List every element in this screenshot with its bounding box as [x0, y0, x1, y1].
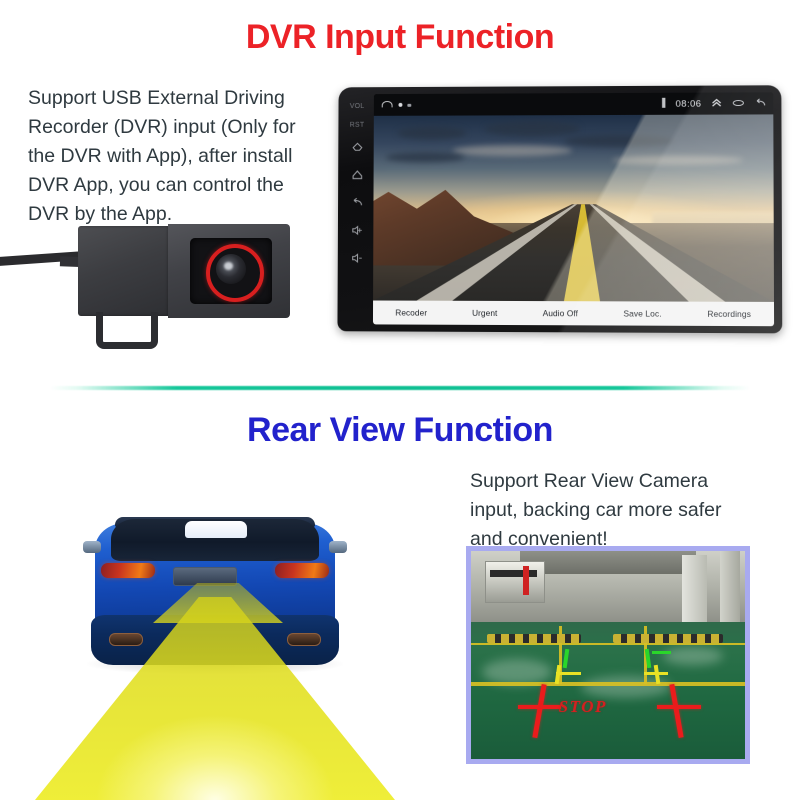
back-arrow-icon[interactable]: [754, 94, 766, 112]
floor-reflection: [663, 647, 723, 665]
reversing-camera-parking-preview: STOP: [466, 546, 750, 764]
parking-barrier-bar: [490, 570, 537, 577]
parking-wheel-stop: [487, 634, 580, 642]
guideline-near-tick-right: [657, 705, 701, 709]
car-mirror-right: [329, 541, 347, 553]
car-exhaust-left: [109, 633, 143, 646]
wallpaper-cloud: [612, 156, 743, 165]
volume-down-icon[interactable]: [350, 252, 363, 265]
parking-lot-line: [471, 682, 745, 686]
side-key-vol-label[interactable]: VOL: [350, 103, 365, 111]
stop-marking-text: STOP: [559, 697, 607, 717]
rear-view-camera-coverage-illustration: [35, 505, 395, 800]
camera-lens-glint: [224, 262, 233, 270]
parking-wheel-stop: [613, 634, 723, 642]
status-bar-clock: 08:06: [675, 98, 701, 109]
cloud-icon: [381, 96, 394, 114]
dvr-function-bar: Recoder Urgent Audio Off Save Loc. Recor…: [373, 300, 774, 326]
camera-body-left: [78, 226, 170, 316]
parking-barrier-marker: [523, 566, 528, 595]
head-unit-screen[interactable]: 08:06: [373, 92, 774, 326]
car-head-unit: VOL RST: [337, 85, 782, 333]
parking-barrier: [485, 561, 545, 603]
recent-apps-icon[interactable]: [732, 94, 745, 112]
head-unit-side-keys: VOL RST: [341, 95, 372, 323]
chevron-up-icon[interactable]: [711, 95, 723, 113]
car-exhaust-right: [287, 633, 321, 646]
power-icon[interactable]: [351, 141, 364, 154]
rear-view-section-description: Support Rear View Camera input, backing …: [470, 467, 755, 554]
car-rear-window: [185, 521, 247, 538]
rear-view-section-title: Rear View Function: [0, 411, 800, 450]
parking-garage-pillar: [682, 555, 707, 622]
section-divider: [50, 386, 750, 390]
dvr-section-title: DVR Input Function: [0, 18, 800, 57]
func-button-audio-off[interactable]: Audio Off: [543, 308, 578, 318]
usb-dvr-camera-device: [0, 212, 300, 340]
status-dot-icon: [398, 103, 402, 107]
func-button-save-loc[interactable]: Save Loc.: [623, 308, 661, 318]
func-button-recoder[interactable]: Recoder: [395, 308, 427, 318]
camera-mount-bracket: [96, 312, 158, 349]
dvr-section-description: Support USB External Driving Recorder (D…: [28, 84, 318, 229]
parking-garage-ceiling: [520, 551, 695, 574]
wallpaper-cloud: [484, 121, 580, 136]
func-button-urgent[interactable]: Urgent: [472, 308, 497, 318]
guideline-far-tick-right: [652, 651, 671, 654]
func-button-recordings[interactable]: Recordings: [707, 309, 751, 319]
side-key-rst-label[interactable]: RST: [350, 122, 365, 130]
car-taillight-left: [101, 563, 155, 578]
status-dot-small-icon: [407, 103, 411, 106]
guideline-near-tick-left: [518, 705, 562, 709]
volume-up-icon[interactable]: [350, 224, 363, 237]
android-status-bar: 08:06: [374, 92, 773, 116]
guideline-mid-tick-left: [556, 672, 581, 675]
sunset-highway-wallpaper: [373, 114, 774, 302]
camera-field-of-view-cone: [35, 597, 395, 800]
back-icon[interactable]: [350, 196, 363, 209]
wallpaper-cloud: [453, 145, 572, 156]
parking-garage-pillar: [720, 551, 739, 622]
home-icon[interactable]: [350, 168, 363, 181]
car-mirror-left: [83, 541, 101, 553]
car-taillight-right: [275, 563, 329, 578]
sim-icon: [661, 95, 666, 113]
parking-lot-line: [471, 643, 745, 646]
guideline-mid-tick-right: [644, 672, 669, 675]
